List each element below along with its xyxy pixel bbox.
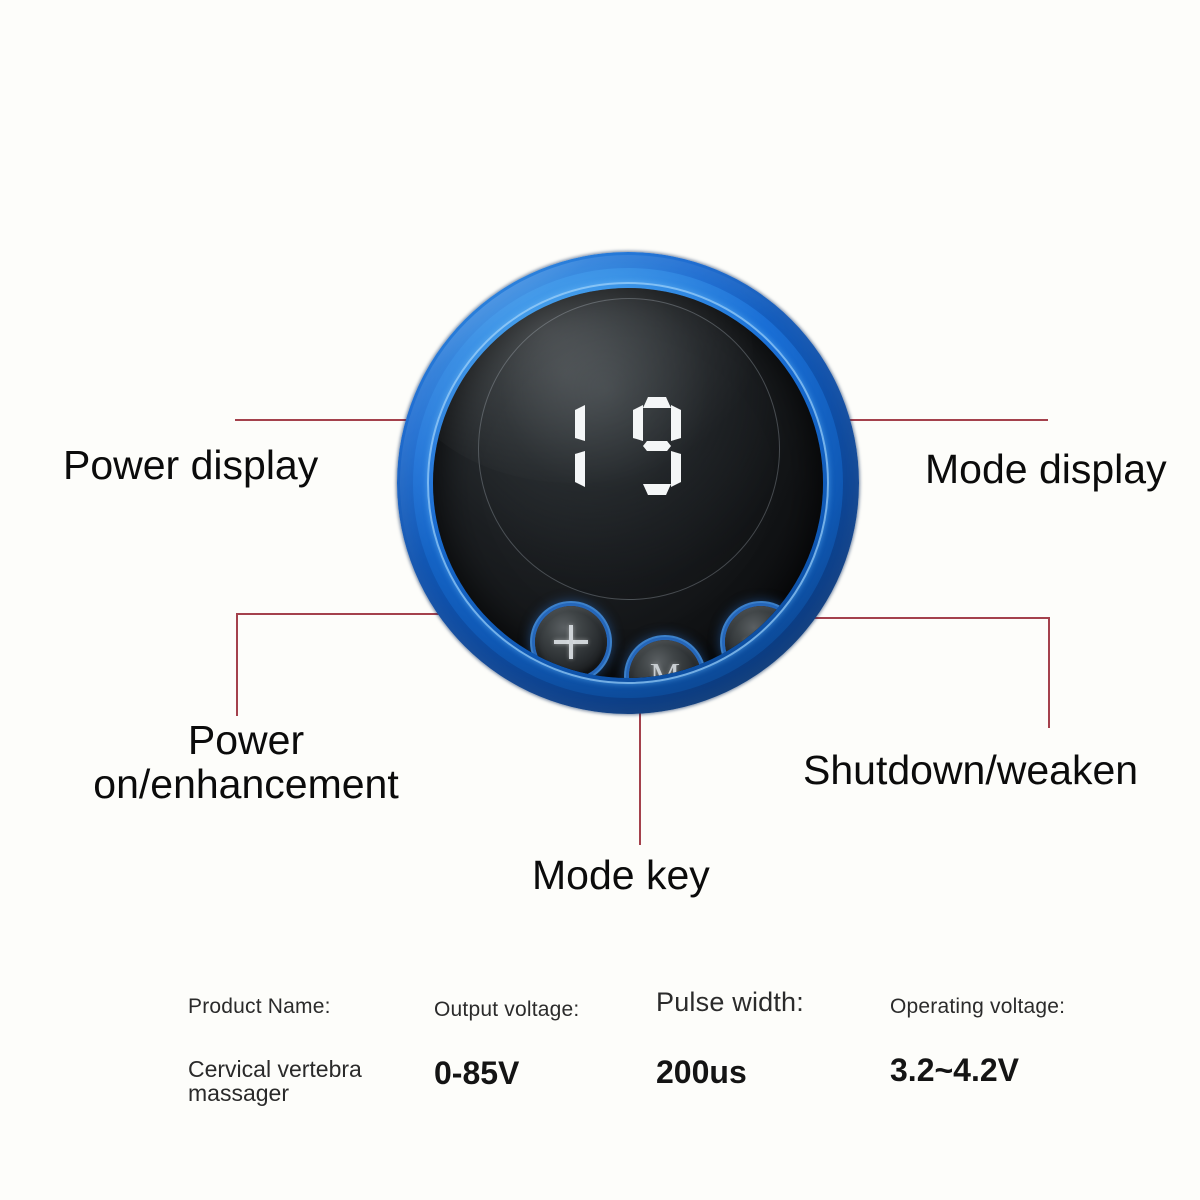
leader-line-shutdown-vertical xyxy=(1048,617,1050,728)
segment-d xyxy=(643,484,671,495)
spec-value: 0-85V xyxy=(434,1055,579,1092)
callout-power-on-line1: Power xyxy=(46,718,446,762)
segment-f xyxy=(633,405,643,441)
segment-g xyxy=(643,441,671,451)
spec-output-voltage: Output voltage: 0-85V xyxy=(434,998,579,1092)
minus-icon xyxy=(725,606,797,678)
mode-m-icon: M xyxy=(629,640,701,678)
callout-shutdown-weaken: Shutdown/weaken xyxy=(803,748,1138,792)
display-digit-right xyxy=(633,397,681,495)
shutdown-weaken-button[interactable] xyxy=(725,606,797,678)
power-on-enhancement-button[interactable] xyxy=(535,606,607,678)
mode-key-button[interactable]: M xyxy=(629,640,701,678)
spec-value: Cervical vertebra massager xyxy=(188,1057,398,1106)
spec-label: Operating voltage: xyxy=(890,995,1065,1019)
spec-operating-voltage: Operating voltage: 3.2~4.2V xyxy=(890,995,1065,1089)
seven-segment-display xyxy=(575,397,681,495)
massager-device: M xyxy=(397,252,859,714)
segment-a xyxy=(643,397,671,408)
leader-line-power-on-vertical xyxy=(236,613,238,716)
spec-label: Pulse width: xyxy=(656,987,804,1018)
display-digit-left xyxy=(575,397,623,495)
spec-product-name: Product Name: Cervical vertebra massager xyxy=(188,995,398,1106)
product-infographic: M Power display Mode display Power on/en… xyxy=(0,0,1200,1200)
segment-e xyxy=(575,451,585,487)
segment-b xyxy=(671,405,681,441)
segment-c xyxy=(671,451,681,487)
spec-value: 200us xyxy=(656,1054,804,1091)
spec-pulse-width: Pulse width: 200us xyxy=(656,987,804,1091)
device-face: M xyxy=(433,288,823,678)
spec-label: Product Name: xyxy=(188,995,398,1019)
callout-power-on-line2: on/enhancement xyxy=(46,762,446,806)
callout-power-display: Power display xyxy=(63,443,318,487)
callout-mode-display: Mode display xyxy=(925,447,1167,491)
callout-mode-key: Mode key xyxy=(532,853,710,897)
spec-label: Output voltage: xyxy=(434,998,579,1022)
callout-power-on-enhancement: Power on/enhancement xyxy=(46,718,446,807)
segment-f xyxy=(575,405,585,441)
spec-value: 3.2~4.2V xyxy=(890,1052,1065,1089)
plus-icon xyxy=(535,606,607,678)
